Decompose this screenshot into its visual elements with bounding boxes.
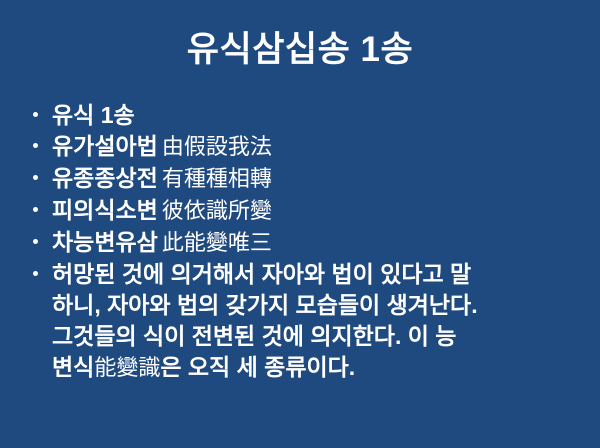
- list-item-label: 유종종상전有種種相轉: [52, 163, 584, 195]
- list-item-translation: 허망된 것에 의거해서 자아와 법이 있다고 말 하니, 자아와 법의 갖가지 …: [28, 259, 584, 384]
- list-item-korean: 유식 1송: [52, 102, 135, 128]
- translation-line-4: 변식能變識은 오직 세 종류이다.: [52, 352, 584, 384]
- list-item: 피의식소변彼依識所變: [28, 195, 584, 227]
- list-item-korean: 피의식소변: [52, 197, 158, 223]
- list-item: 유종종상전有種種相轉: [28, 163, 584, 195]
- list-item-korean: 유종종상전: [52, 165, 158, 191]
- translation-line-4-prefix: 변식: [52, 354, 94, 380]
- slide-canvas: 유식삼십송 1송 유식 1송 유가설아법由假設我法 유종종상전有種種相轉 피의식…: [0, 0, 600, 448]
- translation-line-4-hanja: 能變識: [94, 356, 160, 381]
- page-title: 유식삼십송 1송: [0, 28, 600, 72]
- list-item-hanja: 由假設我法: [162, 135, 272, 160]
- list-item: 차능변유삼此能變唯三: [28, 227, 584, 259]
- bullet-list: 유식 1송 유가설아법由假設我法 유종종상전有種種相轉 피의식소변彼依識所變 차…: [28, 100, 584, 384]
- list-item-label: 차능변유삼此能變唯三: [52, 227, 584, 259]
- translation-paragraph: 허망된 것에 의거해서 자아와 법이 있다고 말 하니, 자아와 법의 갖가지 …: [52, 259, 584, 384]
- list-item-hanja: 有種種相轉: [162, 167, 272, 192]
- translation-line-4-suffix: 은 오직 세 종류이다.: [160, 354, 355, 380]
- translation-line-2: 하니, 자아와 법의 갖가지 모습들이 생겨난다.: [52, 290, 584, 321]
- list-item-label: 유가설아법由假設我法: [52, 131, 584, 163]
- list-item-label: 피의식소변彼依識所變: [52, 195, 584, 227]
- list-item-hanja: 此能變唯三: [162, 231, 272, 256]
- bullet-dot-icon: [33, 175, 38, 180]
- list-item-korean: 유가설아법: [52, 133, 158, 159]
- bullet-dot-icon: [33, 207, 38, 212]
- translation-line-3: 그것들의 식이 전변된 것에 의지한다. 이 능: [52, 321, 584, 352]
- list-item: 유식 1송: [28, 100, 584, 131]
- bullet-dot-icon: [33, 271, 38, 276]
- list-item-hanja: 彼依識所變: [162, 199, 272, 224]
- bullet-dot-icon: [33, 239, 38, 244]
- list-item-korean: 차능변유삼: [52, 229, 158, 255]
- list-item: 유가설아법由假設我法: [28, 131, 584, 163]
- bullet-dot-icon: [33, 112, 38, 117]
- list-item-label: 유식 1송: [52, 100, 584, 131]
- bullet-dot-icon: [33, 143, 38, 148]
- translation-line-1: 허망된 것에 의거해서 자아와 법이 있다고 말: [52, 259, 584, 290]
